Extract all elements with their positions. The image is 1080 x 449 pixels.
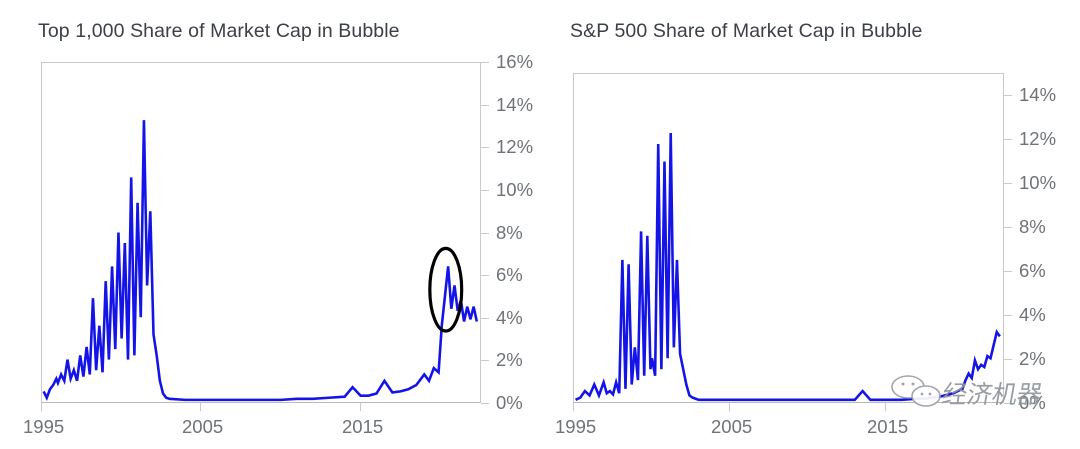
y-tick [481,403,489,404]
y-axis-label: 10% [1019,172,1056,194]
x-axis-label: 2015 [342,416,383,438]
y-axis-label: 4% [1019,304,1046,326]
series-canvas-top-1000 [42,63,480,402]
x-axis-label: 1995 [23,416,64,438]
x-axis-label: 2005 [182,416,223,438]
y-tick [1004,227,1012,228]
y-tick [481,190,489,191]
y-axis-label: 14% [496,94,533,116]
y-tick [481,105,489,106]
y-tick [1004,271,1012,272]
plot-area-sp500 [573,73,1004,403]
x-tick [573,403,574,411]
y-tick [481,360,489,361]
y-axis-label: 0% [1019,392,1046,414]
y-tick [1004,359,1012,360]
y-axis-label: 2% [1019,348,1046,370]
y-axis-label: 2% [496,349,523,371]
dual-chart-figure: Top 1,000 Share of Market Cap in Bubble … [0,0,1080,449]
y-axis-label: 8% [1019,216,1046,238]
y-tick [1004,139,1012,140]
y-tick [1004,95,1012,96]
x-tick [200,403,201,411]
y-axis-label: 14% [1019,84,1056,106]
y-tick [481,275,489,276]
data-line-sp500 [576,133,1000,400]
x-axis-label: 2015 [867,416,908,438]
series-canvas-sp500 [574,74,1003,402]
x-tick [885,403,886,411]
y-axis-label: 6% [1019,260,1046,282]
y-tick [481,62,489,63]
y-axis-label: 10% [496,179,533,201]
y-axis-label: 12% [1019,128,1056,150]
x-axis-label: 2005 [711,416,752,438]
chart-panel-top-1000: Top 1,000 Share of Market Cap in Bubble … [0,0,540,449]
y-tick [481,147,489,148]
x-tick [41,403,42,411]
y-tick [481,318,489,319]
x-tick [360,403,361,411]
plot-area-top-1000 [41,62,481,403]
y-axis-label: 6% [496,264,523,286]
chart-panel-sp500: S&P 500 Share of Market Cap in Bubble 14… [540,0,1080,449]
y-tick [1004,315,1012,316]
y-axis-label: 8% [496,222,523,244]
y-axis-label: 4% [496,307,523,329]
y-axis-label: 0% [496,392,523,414]
x-tick [729,403,730,411]
y-tick [481,233,489,234]
data-line-top-1000 [44,120,477,400]
y-axis-label: 16% [496,51,533,73]
y-tick [1004,183,1012,184]
y-tick [1004,403,1012,404]
page-title-secondary: S&P 500 Share of Market Cap in Bubble [570,20,922,43]
page-title: Top 1,000 Share of Market Cap in Bubble [38,20,400,43]
x-axis-label: 1995 [555,416,596,438]
y-axis-label: 12% [496,136,533,158]
